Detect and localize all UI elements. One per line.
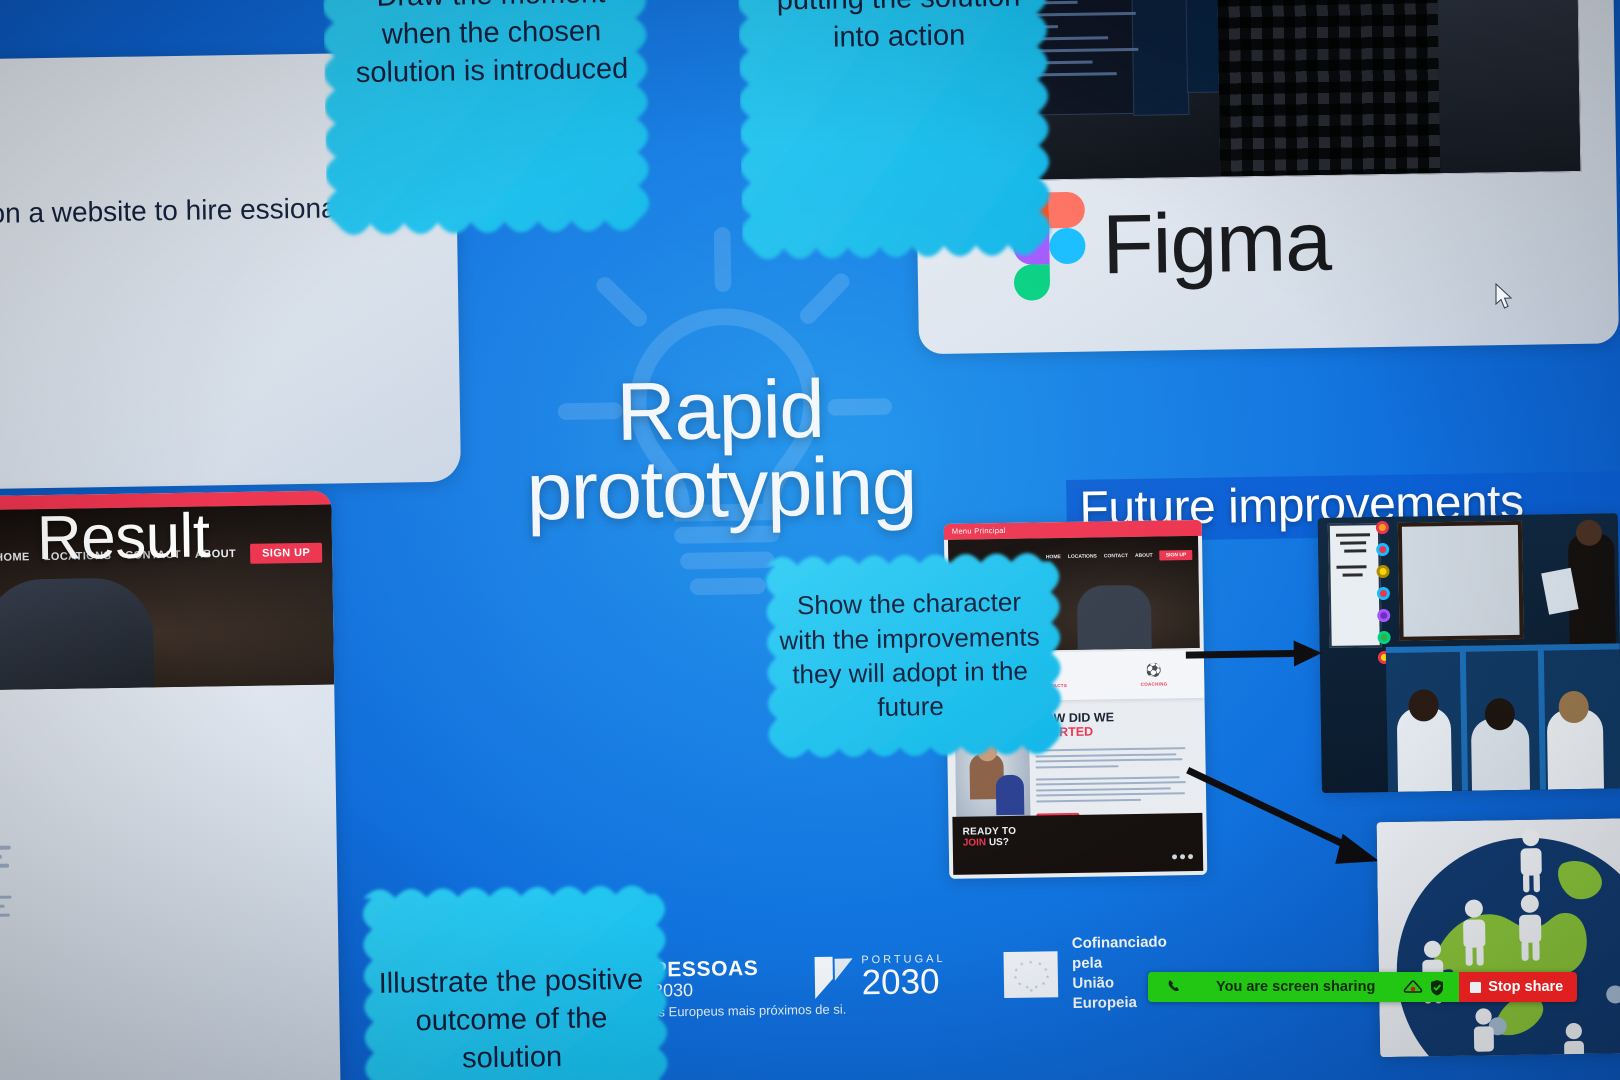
screen-sharing-status[interactable]: You are screen sharing [1148,972,1459,1002]
svg-text:★: ★ [1013,975,1018,981]
phone-icon[interactable] [1162,979,1186,995]
coaching-whistle-icon: ⚽ [1140,663,1167,676]
classroom-photo [1318,513,1620,793]
mock-nav-item[interactable]: CONTACT [1104,553,1128,559]
cta-line-2: JOIN US? [963,834,1193,849]
screen-share-bar[interactable]: You are screen sharing Stop share [1148,972,1577,1002]
page-title: Rapid prototyping [409,368,1031,534]
body-placeholder-text [0,886,12,938]
result-title: Result [36,500,210,574]
mock-cta-footer: READY TO JOIN US? [952,813,1203,875]
mouse-pointer-icon [1494,283,1514,311]
eu-text-line-1: Cofinanciado pela [1072,932,1179,974]
title-line-2: prototyping [411,445,1032,533]
svg-text:★: ★ [1029,960,1034,966]
how-did-we-section: HOW DID WE STARTED SIGN UP [0,786,13,976]
svg-text:★: ★ [1029,988,1034,994]
note-draw-moment[interactable]: Draw the moment when the chosen solution… [321,0,663,282]
note-text: Illustrate the positive outcome of the s… [345,960,679,1080]
mock-nav-item[interactable]: ABOUT [1135,553,1153,559]
mock-signup-button[interactable]: SIGN UP [250,543,322,564]
body-placeholder-text [1036,776,1186,802]
figma-wordmark: Figma [1102,204,1332,283]
svg-text:★: ★ [1014,968,1019,974]
note-future-improvements[interactable]: Show the character with the improvements… [747,542,1072,769]
mock-nav-item[interactable]: LOCATIONS [1068,554,1097,560]
stop-square-icon [1470,982,1481,993]
body-placeholder-text [0,846,11,880]
note-text: Draw the moment when the chosen solution… [323,0,660,93]
svg-text:★: ★ [1020,962,1025,968]
screen-sharing-label: You are screen sharing [1186,979,1401,995]
note-text: Show the character putting the solution … [738,0,1060,58]
shield-check-icon[interactable] [1425,979,1449,996]
svg-text:★: ★ [1038,961,1043,967]
note-text: Show the character with the improvements… [748,584,1072,726]
arrow-down-right-icon [1182,759,1394,882]
mock-nav-item[interactable]: HOME [0,551,30,564]
portugal-year: 2030 [861,965,946,1000]
portugal-2030-logo: PORTUGAL 2030 [808,951,946,1003]
svg-text:★: ★ [1017,981,1022,987]
feature-label: COACHING [1141,681,1168,686]
globe-with-people-illustration [1377,818,1620,1057]
svg-text:★: ★ [1034,985,1039,991]
result-mockup-card: HOME LOCATIONS CONTACT ABOUT SIGN UP NG … [0,491,341,1080]
eu-flag-icon: ★ ★ ★ ★ ★ ★ ★ ★ ★ ★ ★ ★ [1003,951,1058,998]
cta-join: JOIN [963,837,987,848]
svg-text:★: ★ [1041,981,1046,987]
arrow-right-icon [1181,630,1330,678]
screenshot-root: cided to work on a website to hire essio… [0,0,1620,1080]
note-positive-outcome[interactable]: Illustrate the positive outcome of the s… [343,874,679,1080]
cta-us: US? [986,837,1009,848]
note-solution-action[interactable]: Show the character putting the solution … [736,0,1063,305]
stop-share-label: Stop share [1488,979,1563,995]
projected-slide: cided to work on a website to hire essio… [0,0,1620,1080]
section-heading-2: STARTED [0,810,11,840]
svg-text:★: ★ [1044,967,1049,973]
feature-coaching[interactable]: ⚽ COACHING [1140,663,1167,686]
stop-share-button[interactable]: Stop share [1459,972,1577,1002]
mock-signup-button[interactable]: SIGN UP [1160,550,1193,561]
portugal-mark-icon [808,952,855,1003]
title-line-1: Rapid [409,368,1030,456]
portugal-wordmark: PORTUGAL [861,954,945,966]
recording-cloud-icon[interactable] [1401,979,1425,995]
svg-text:★: ★ [1045,974,1050,980]
